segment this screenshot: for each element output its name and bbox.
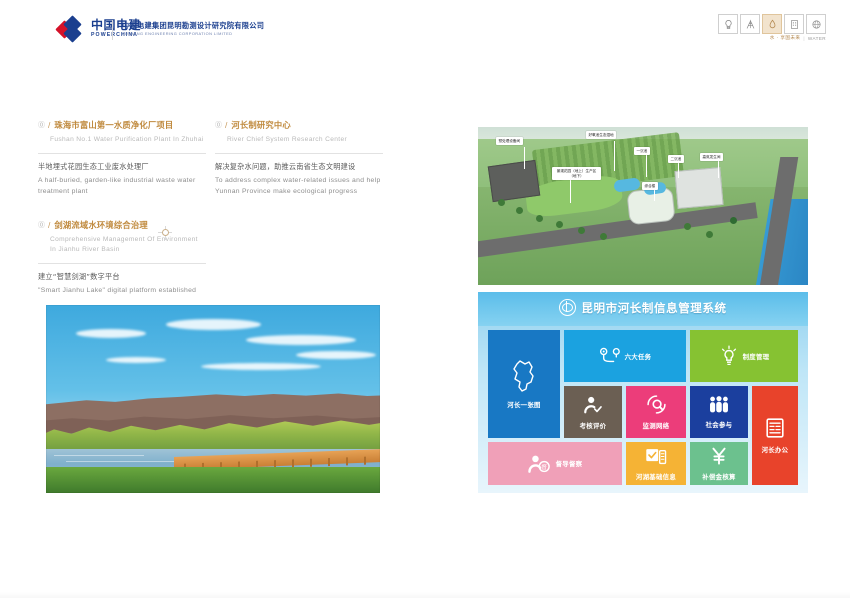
entry-fushan-plant: ⓪ / 珠海市富山第一水质净化厂项目 Fushan No.1 Water Pur…: [38, 120, 206, 197]
tile-label: 考核评价: [580, 421, 607, 430]
entry-jianhu-basin: ⓪ / 剑湖流域水环境综合治理 Comprehensive Management…: [38, 220, 206, 297]
entry-title-en: Fushan No.1 Water Purification Plant In …: [50, 135, 206, 145]
company-name-cn: 中国电建集团昆明勘测设计研究院有限公司: [122, 22, 264, 29]
lightbulb-icon: [719, 345, 739, 367]
person-check-icon: [583, 395, 603, 415]
entry-title-en: Comprehensive Management Of Environment …: [50, 235, 206, 255]
entry-slash: /: [225, 120, 227, 131]
water-plant-aerial-rendering: 预处理设备间 好氧池生态湿地 一沉池 二沉池 高氮发生间 景观花园（地上）生产区…: [478, 127, 808, 285]
entry-body-en: To address complex water-related issues …: [215, 176, 383, 197]
tile-monitoring-network[interactable]: 监测网络: [626, 386, 686, 438]
entry-river-chief-center: ⓪ / 河长制研究中心 River Chief System Research …: [215, 120, 383, 197]
aerial-building-pretreatment: [488, 160, 541, 202]
tile-six-tasks[interactable]: 六大任务: [564, 330, 686, 382]
lamp-icon[interactable]: [718, 14, 738, 34]
entry-body-en: A half-buried, garden-like industrial wa…: [38, 176, 206, 197]
tile-label: 河湖基础信息: [636, 472, 676, 481]
map-outline-icon: [511, 360, 537, 394]
aerial-label: 一沉池: [634, 147, 650, 155]
tile-label: 监测网络: [643, 421, 670, 430]
entry-slash: /: [48, 120, 50, 131]
brochure-page: 中国电建 POWERCHINA 中国电建集团昆明勘测设计研究院有限公司 KUNM…: [0, 0, 850, 598]
checklist-icon: [645, 447, 667, 466]
water-drop-icon[interactable]: [762, 14, 782, 34]
entry-divider: [38, 263, 206, 264]
tile-river-lake-basic-info[interactable]: 河湖基础信息: [626, 442, 686, 485]
entry-slash: /: [48, 220, 50, 231]
entry-divider: [215, 153, 383, 154]
entry-title-cn: 珠海市富山第一水质净化厂项目: [54, 120, 173, 131]
aerial-building-main: [674, 167, 723, 209]
tile-label: 补偿金核算: [702, 472, 735, 481]
tile-label: 制度管理: [743, 352, 770, 361]
lake-landscape-photograph: [46, 305, 380, 493]
entry-divider: [38, 153, 206, 154]
aerial-label: 好氧池生态湿地: [586, 131, 616, 139]
tile-label: 社会参与: [706, 420, 733, 429]
entry-title-cn: 河长制研究中心: [231, 120, 290, 131]
dashboard-tile-grid: 河长一张图 六大任务 制度管理 考核评价 监测网络 社会参与: [488, 330, 798, 485]
building-icon[interactable]: [784, 14, 804, 34]
entry-marker-icon: ⓪: [215, 120, 222, 131]
company-name-en: KUNMING ENGINEERING CORPORATION LIMITED: [122, 32, 264, 36]
document-grid-icon: [765, 417, 785, 439]
tile-river-chief-office[interactable]: 河长办公: [752, 386, 798, 485]
sector-caption: 水 · 享国未来 | WATER: [770, 35, 826, 41]
entry-body-en: "Smart Jianhu Lake" digital platform est…: [38, 286, 206, 297]
tile-social-participation[interactable]: 社会参与: [690, 386, 748, 438]
tile-river-chief-map[interactable]: 河长一张图: [488, 330, 560, 438]
entry-title-cn: 剑湖流域水环境综合治理: [54, 220, 147, 231]
entry-body-cn: 解决复杂水问题，助推云南省生态文明建设: [215, 161, 383, 172]
entry-body-cn: 建立“智慧剑湖”数字平台: [38, 271, 206, 282]
powerchina-logo-mark: [58, 18, 84, 40]
aerial-label: 二沉池: [668, 155, 684, 163]
tile-label: 河长办公: [762, 445, 789, 454]
river-chief-information-system-dashboard: 昆明市河长制信息管理系统 河长一张图 六大任务 制度管理 考核评价 监测: [478, 292, 808, 493]
tile-supervision-inspection[interactable]: 督 督导督察: [488, 442, 622, 485]
dashboard-title-bar: 昆明市河长制信息管理系统: [478, 299, 808, 316]
radar-search-icon: [646, 394, 667, 415]
tower-icon[interactable]: [740, 14, 760, 34]
yuan-icon: [710, 446, 728, 466]
svg-text:督: 督: [541, 462, 547, 470]
dashboard-title: 昆明市河长制信息管理系统: [581, 300, 726, 316]
route-pin-icon: [599, 347, 621, 365]
tile-label: 督导督察: [556, 459, 583, 468]
aerial-label: 景观花园（地上）生产区（地下）: [552, 167, 601, 180]
sector-caption-en: WATER: [808, 36, 826, 41]
header-divider: [112, 20, 113, 40]
company-name: 中国电建集团昆明勘测设计研究院有限公司 KUNMING ENGINEERING …: [122, 22, 264, 36]
globe-icon[interactable]: [806, 14, 826, 34]
entry-marker-icon: ⓪: [38, 220, 45, 231]
aerial-label: 高氮发生间: [700, 153, 723, 161]
tile-label: 河长一张图: [507, 400, 540, 409]
entry-body-cn: 半地埋式花园生态工业废水处理厂: [38, 161, 206, 172]
entry-title-en: River Chief System Research Center: [227, 135, 383, 145]
sector-caption-cn: 水 · 享国未来: [770, 35, 801, 41]
tile-system-management[interactable]: 制度管理: [690, 330, 798, 382]
people-group-icon: [708, 395, 730, 414]
crosshair-registration-icon: [158, 226, 172, 240]
page-header: 中国电建 POWERCHINA 中国电建集团昆明勘测设计研究院有限公司 KUNM…: [0, 0, 850, 56]
aerial-label: 综合楼: [642, 182, 658, 190]
tile-label: 六大任务: [625, 352, 652, 361]
tile-assessment-evaluation[interactable]: 考核评价: [564, 386, 622, 438]
aerial-label: 预处理设备间: [496, 137, 523, 145]
tile-compensation-accounting[interactable]: 补偿金核算: [690, 442, 748, 485]
sector-caption-separator: |: [803, 36, 805, 41]
sector-icon-strip[interactable]: [718, 14, 826, 34]
entry-marker-icon: ⓪: [38, 120, 45, 131]
person-badge-icon: 督: [528, 454, 552, 474]
river-chief-emblem-icon: [559, 299, 576, 316]
